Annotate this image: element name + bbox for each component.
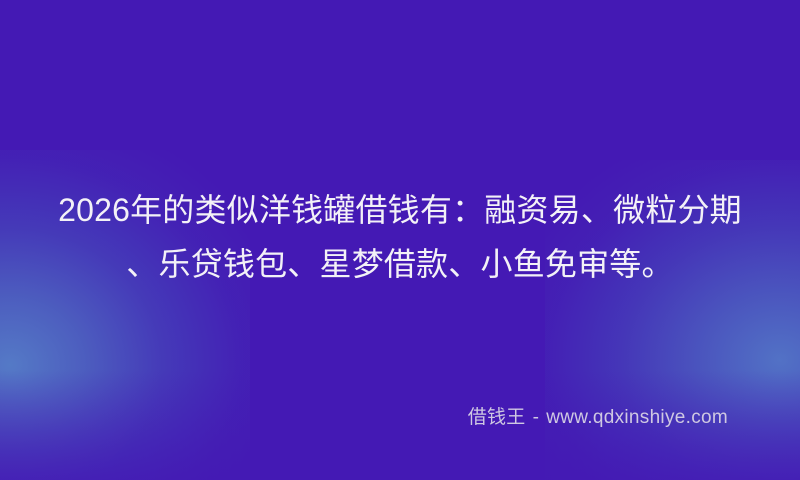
watermark-url: www.qdxinshiye.com [546,406,728,430]
watermark-separator: - [533,406,540,430]
headline-text: 2026年的类似洋钱罐借钱有：融资易、微粒分期 、乐贷钱包、星梦借款、小鱼免审等… [50,183,750,291]
watermark: 借钱王 - www.qdxinshiye.com [468,406,728,430]
promo-banner: 2026年的类似洋钱罐借钱有：融资易、微粒分期 、乐贷钱包、星梦借款、小鱼免审等… [0,0,800,480]
watermark-brand: 借钱王 [468,406,526,430]
